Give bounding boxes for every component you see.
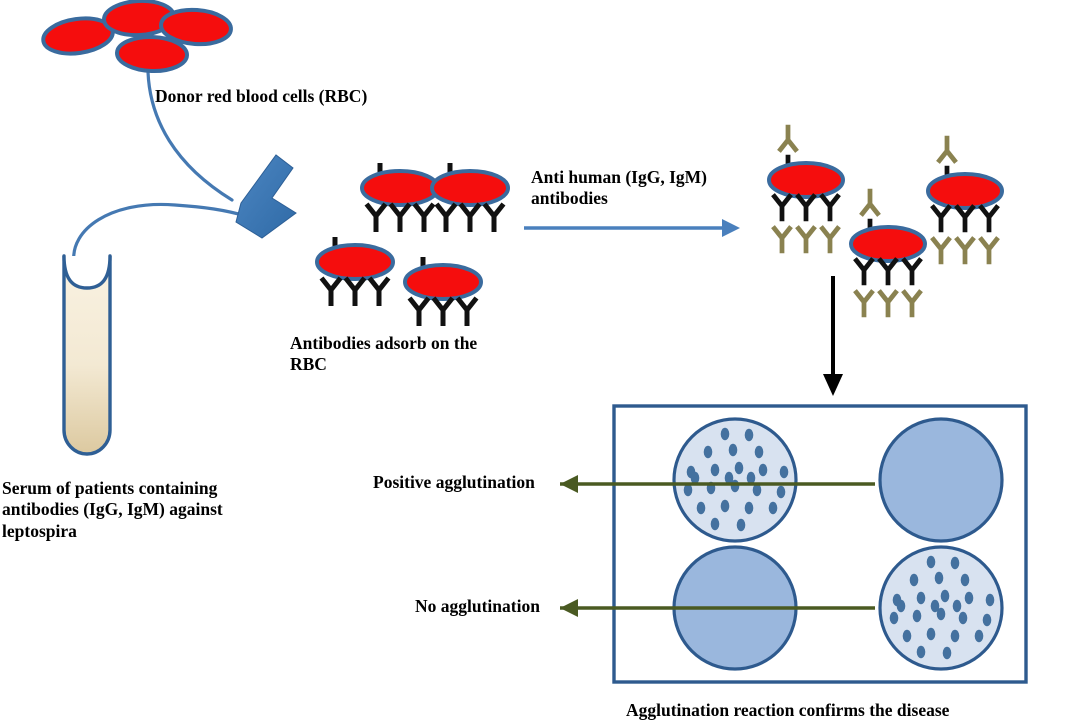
immune-complex-cluster bbox=[769, 125, 1002, 317]
antibody-coated-rbc-cluster bbox=[317, 163, 508, 326]
agglutinated-particle bbox=[745, 502, 754, 514]
agglutinated-particle bbox=[735, 462, 744, 474]
antibody-arms bbox=[773, 195, 791, 222]
antibody-arms bbox=[855, 291, 873, 318]
antibody-y-icon bbox=[855, 291, 873, 318]
agglutinated-particle bbox=[927, 628, 936, 640]
agglutinated-particle bbox=[755, 446, 764, 458]
antibody-arms bbox=[821, 227, 839, 254]
red-blood-cell-icon bbox=[432, 171, 508, 205]
red-blood-cell-icon bbox=[928, 174, 1002, 208]
well-body bbox=[880, 419, 1002, 541]
process-arrow-icon bbox=[524, 219, 740, 237]
agglutinated-particle bbox=[986, 594, 995, 606]
caption-agglutination-confirms: Agglutination reaction confirms the dise… bbox=[626, 700, 1046, 721]
antibody-y-icon bbox=[855, 259, 873, 286]
antibody-arms bbox=[367, 204, 386, 232]
antibody-y-icon bbox=[980, 206, 998, 233]
rbc-body bbox=[928, 174, 1002, 208]
antibody-arms bbox=[861, 189, 879, 216]
agglutinated-particle bbox=[711, 518, 720, 530]
agglutinated-particle bbox=[951, 630, 960, 642]
agglutinated-particle bbox=[983, 614, 992, 626]
antibody-arms bbox=[980, 206, 998, 233]
agglutinated-particle bbox=[951, 557, 960, 569]
antibody-arms bbox=[346, 278, 365, 306]
agglutinated-particle bbox=[759, 464, 768, 476]
agglutinated-particle bbox=[729, 444, 738, 456]
rbc-body bbox=[362, 171, 438, 205]
antibody-y-icon bbox=[980, 238, 998, 265]
antibody-arms bbox=[956, 238, 974, 265]
rbc-body bbox=[432, 171, 508, 205]
agglutinated-particle bbox=[931, 600, 940, 612]
agglutinated-particle bbox=[965, 592, 974, 604]
coated-rbc bbox=[317, 237, 393, 306]
well-top-left bbox=[674, 419, 796, 541]
agglutinated-particle bbox=[721, 428, 730, 440]
antibody-y-icon bbox=[879, 291, 897, 318]
coated-rbc bbox=[405, 257, 481, 326]
agglutinated-particle bbox=[697, 502, 706, 514]
antibody-arms bbox=[980, 238, 998, 265]
antibody-y-icon bbox=[797, 227, 815, 254]
antibody-arms bbox=[773, 227, 791, 254]
antibody-arms bbox=[458, 298, 477, 326]
agglutinated-particle bbox=[745, 429, 754, 441]
agglutinated-particle bbox=[711, 464, 720, 476]
antibody-y-icon bbox=[370, 278, 389, 306]
agglutinated-particle bbox=[917, 646, 926, 658]
antibody-arms bbox=[938, 136, 956, 163]
antibody-y-icon bbox=[821, 195, 839, 222]
agglutinated-particle bbox=[953, 600, 962, 612]
antibody-y-icon bbox=[485, 204, 504, 232]
label-no-agglutination: No agglutination bbox=[415, 596, 615, 617]
red-blood-cell-icon bbox=[851, 227, 925, 261]
antibody-arms bbox=[903, 259, 921, 286]
red-blood-cell-icon bbox=[405, 265, 481, 299]
antibody-y-icon bbox=[437, 204, 456, 232]
antibody-y-icon bbox=[932, 238, 950, 265]
antibody-y-icon bbox=[458, 298, 477, 326]
antibody-arms bbox=[932, 238, 950, 265]
antibody-y-icon bbox=[322, 278, 341, 306]
agglutinated-particle bbox=[769, 502, 778, 514]
agglutinated-particle bbox=[961, 574, 970, 586]
agglutinated-particle bbox=[917, 592, 926, 604]
antibody-arms bbox=[932, 206, 950, 233]
agglutinated-particle bbox=[721, 500, 730, 512]
antibody-y-icon bbox=[461, 204, 480, 232]
antibody-arms bbox=[437, 204, 456, 232]
antibody-arms bbox=[461, 204, 480, 232]
agglutinated-particle bbox=[910, 574, 919, 586]
antibody-arms bbox=[370, 278, 389, 306]
coated-rbc bbox=[362, 163, 438, 232]
antibody-y-icon bbox=[821, 227, 839, 254]
well-bottom-right bbox=[880, 547, 1002, 669]
antibody-y-icon bbox=[367, 204, 386, 232]
antibody-y-icon bbox=[779, 125, 797, 152]
label-serum: Serum of patients containing antibodies … bbox=[2, 478, 252, 542]
rbc-body bbox=[116, 36, 187, 72]
agglutinated-particle bbox=[913, 610, 922, 622]
rbc-body bbox=[851, 227, 925, 261]
antibody-arms bbox=[879, 291, 897, 318]
donor-rbc-cluster bbox=[41, 0, 232, 72]
label-positive-agglutination: Positive agglutination bbox=[373, 472, 593, 493]
agglutinated-particle bbox=[941, 590, 950, 602]
antibody-y-icon bbox=[415, 204, 434, 232]
label-donor-rbc: Donor red blood cells (RBC) bbox=[155, 86, 455, 107]
chevron-arrow-icon bbox=[236, 155, 296, 238]
agglutinated-particle bbox=[897, 600, 906, 612]
immune-complex-rbc bbox=[769, 125, 843, 253]
antibody-y-icon bbox=[434, 298, 453, 326]
antibody-arms bbox=[391, 204, 410, 232]
well-top-right bbox=[880, 419, 1002, 541]
agglutinated-particle bbox=[903, 630, 912, 642]
antibody-arms bbox=[434, 298, 453, 326]
rbc-body bbox=[317, 245, 393, 279]
label-anti-human-antibodies: Anti human (IgG, IgM) antibodies bbox=[531, 167, 736, 210]
agglutinated-particle bbox=[943, 647, 952, 659]
immune-complex-rbc bbox=[928, 136, 1002, 264]
antibody-arms bbox=[797, 227, 815, 254]
red-blood-cell-icon bbox=[317, 245, 393, 279]
agglutinated-particle bbox=[935, 572, 944, 584]
antibody-arms bbox=[855, 259, 873, 286]
antibody-arms bbox=[821, 195, 839, 222]
diagram-canvas: Donor red blood cells (RBC) Serum of pat… bbox=[0, 0, 1070, 727]
diagram-graphics bbox=[0, 0, 1070, 727]
antibody-arms bbox=[415, 204, 434, 232]
antibody-arms bbox=[779, 125, 797, 152]
antibody-y-icon bbox=[410, 298, 429, 326]
antibody-y-icon bbox=[391, 204, 410, 232]
antibody-y-icon bbox=[938, 136, 956, 163]
rbc-body bbox=[769, 163, 843, 197]
label-antibodies-adsorb: Antibodies adsorb on the RBC bbox=[290, 333, 505, 376]
antibody-arms bbox=[410, 298, 429, 326]
antibody-y-icon bbox=[861, 189, 879, 216]
red-blood-cell-icon bbox=[769, 163, 843, 197]
antibody-arms bbox=[485, 204, 504, 232]
antibody-y-icon bbox=[956, 238, 974, 265]
agglutinated-particle bbox=[704, 446, 713, 458]
antibody-y-icon bbox=[346, 278, 365, 306]
agglutinated-particle bbox=[780, 466, 789, 478]
antibody-y-icon bbox=[773, 195, 791, 222]
antibody-arms bbox=[322, 278, 341, 306]
antibody-arms bbox=[903, 291, 921, 318]
agglutinated-particle bbox=[975, 630, 984, 642]
antibody-y-icon bbox=[903, 291, 921, 318]
rbc-body bbox=[405, 265, 481, 299]
down-arrow-icon bbox=[823, 276, 843, 396]
agglutinated-particle bbox=[777, 486, 786, 498]
coated-rbc bbox=[432, 163, 508, 232]
red-blood-cell-icon bbox=[362, 171, 438, 205]
antibody-y-icon bbox=[903, 259, 921, 286]
antibody-y-icon bbox=[932, 206, 950, 233]
red-blood-cell-icon bbox=[116, 36, 187, 72]
agglutinated-particle bbox=[737, 519, 746, 531]
test-tube-icon bbox=[64, 256, 110, 454]
agglutinated-particle bbox=[890, 612, 899, 624]
agglutinated-particle bbox=[927, 556, 936, 568]
agglutinated-particle bbox=[959, 612, 968, 624]
immune-complex-rbc bbox=[851, 189, 925, 317]
antibody-y-icon bbox=[773, 227, 791, 254]
